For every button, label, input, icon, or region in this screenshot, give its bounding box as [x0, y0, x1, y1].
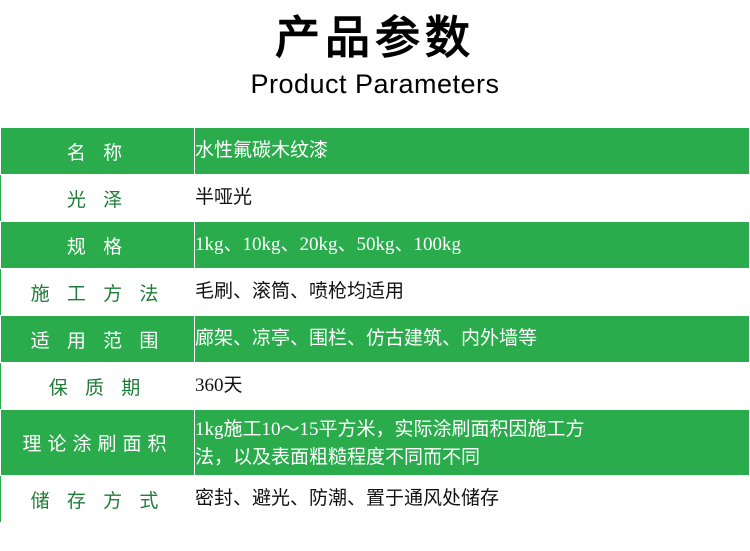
table-row: 光 泽 半哑光	[1, 175, 750, 222]
row-value: 1kg、10kg、20kg、50kg、100kg	[195, 222, 750, 269]
row-label: 名 称	[1, 128, 195, 175]
table-row: 适 用 范 围 廊架、凉亭、围栏、仿古建筑、内外墙等	[1, 316, 750, 363]
parameters-table-body: 名 称 水性氟碳木纹漆 光 泽 半哑光	[1, 128, 750, 523]
table-row: 规 格 1kg、10kg、20kg、50kg、100kg	[1, 222, 750, 269]
row-value: 水性氟碳木纹漆	[195, 128, 750, 175]
table-row: 理论涂刷面积 1kg施工10～15平方米，实际涂刷面积因施工方 法，以及表面粗糙…	[1, 410, 750, 476]
row-label: 施 工 方 法	[1, 269, 195, 316]
row-label: 理论涂刷面积	[1, 410, 195, 476]
row-label: 储 存 方 式	[1, 476, 195, 523]
page-title-cn: 产品参数	[0, 12, 750, 64]
row-value: 1kg施工10～15平方米，实际涂刷面积因施工方 法，以及表面粗糙程度不同而不同	[195, 410, 750, 476]
table-row: 施 工 方 法 毛刷、滚筒、喷枪均适用	[1, 269, 750, 316]
product-parameters-page: 产品参数 Product Parameters 名 称 水性氟碳木纹漆 光 泽	[0, 0, 750, 551]
table-row: 名 称 水性氟碳木纹漆	[1, 128, 750, 175]
row-value: 廊架、凉亭、围栏、仿古建筑、内外墙等	[195, 316, 750, 363]
row-label: 适 用 范 围	[1, 316, 195, 363]
row-value: 毛刷、滚筒、喷枪均适用	[195, 269, 750, 316]
page-title-en: Product Parameters	[0, 70, 750, 100]
row-value: 半哑光	[195, 175, 750, 222]
parameters-table: 名 称 水性氟碳木纹漆 光 泽 半哑光	[0, 127, 750, 523]
row-label: 规 格	[1, 222, 195, 269]
row-value: 360天	[195, 363, 750, 410]
row-label: 保 质 期	[1, 363, 195, 410]
table-row: 储 存 方 式 密封、避光、防潮、置于通风处储存	[1, 476, 750, 523]
row-label: 光 泽	[1, 175, 195, 222]
page-header: 产品参数 Product Parameters	[0, 0, 750, 99]
parameters-table-wrapper: 名 称 水性氟碳木纹漆 光 泽 半哑光	[0, 127, 750, 551]
row-value: 密封、避光、防潮、置于通风处储存	[195, 476, 750, 523]
table-row: 保 质 期 360天	[1, 363, 750, 410]
